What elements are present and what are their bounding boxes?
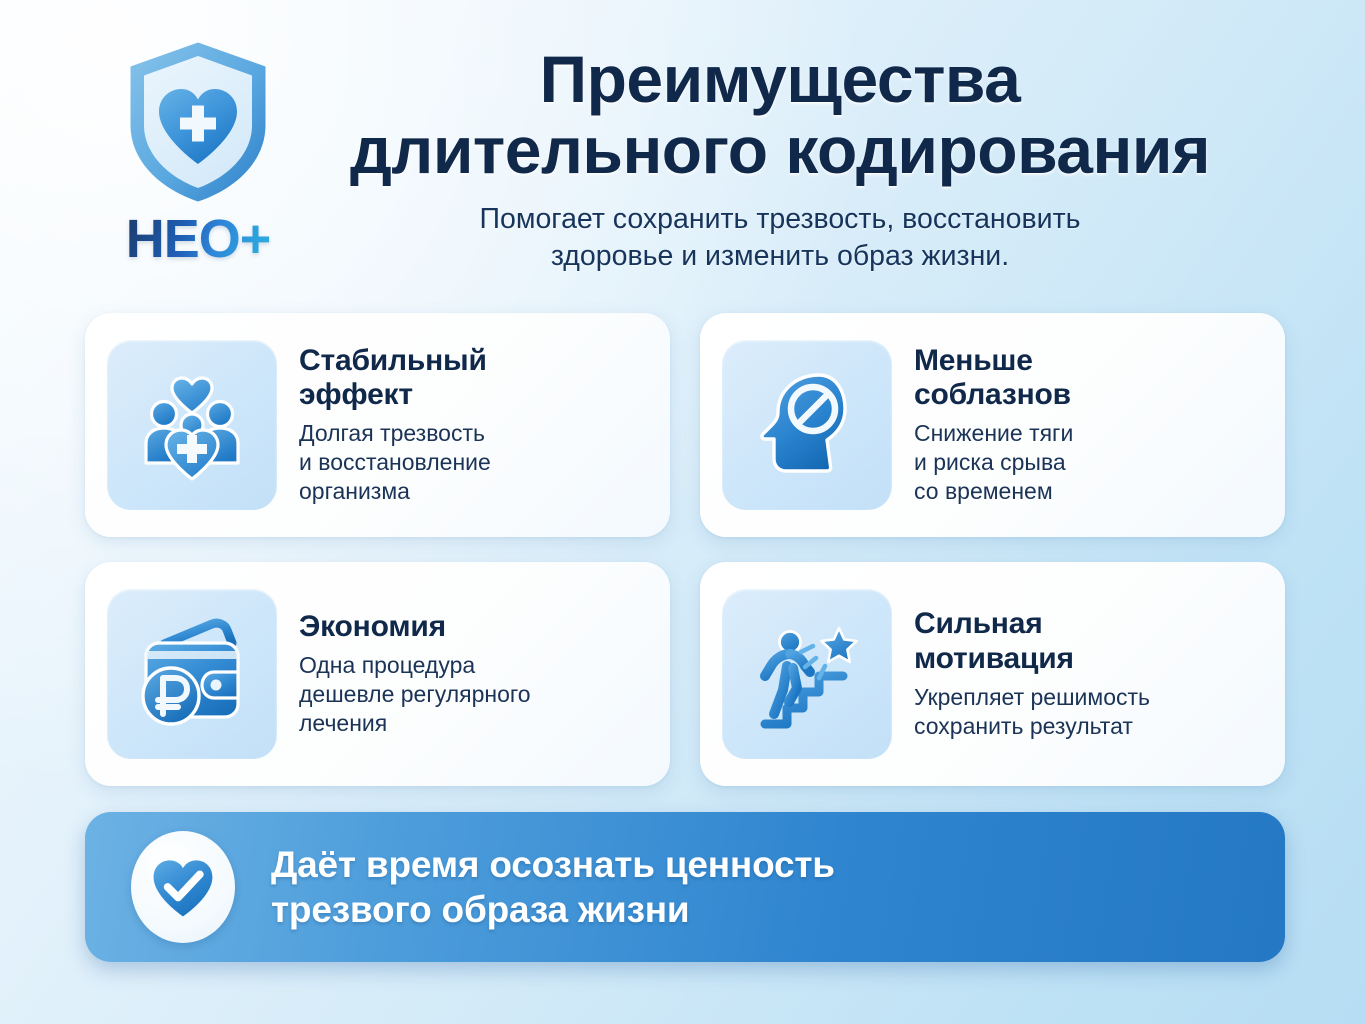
benefit-icon-tile [107, 340, 277, 510]
wallet-ruble-icon [128, 610, 256, 738]
benefit-desc-line-2: и риска срыва [914, 448, 1073, 477]
benefit-icon-tile [722, 340, 892, 510]
benefit-card-text: Меньше соблазнов Снижение тяги и риска с… [914, 344, 1079, 506]
benefit-title-line-2: соблазнов [914, 378, 1073, 412]
banner-message: Даёт время осознать ценность трезвого об… [271, 842, 835, 932]
header-text-block: Преимущества длительного кодирования Пом… [270, 44, 1290, 275]
poster-header: НЕО+ Преимущества длительного кодировани… [0, 0, 1365, 305]
benefit-card-less-temptation: Меньше соблазнов Снижение тяги и риска с… [700, 313, 1285, 537]
page-title-line-2: длительного кодирования [270, 115, 1290, 186]
benefit-card-stable-effect: Стабильный эффект Долгая трезвость и вос… [85, 313, 670, 537]
shield-heart-plus-icon [123, 38, 273, 206]
benefit-card-description: Снижение тяги и риска срыва со временем [914, 419, 1073, 506]
person-stairs-star-icon [743, 610, 871, 738]
benefit-desc-line-3: организма [299, 477, 491, 506]
benefit-card-description: Долгая трезвость и восстановление органи… [299, 419, 491, 506]
benefit-desc-line-1: Долгая трезвость [299, 419, 491, 448]
benefit-card-text: Экономия Одна процедура дешевле регулярн… [299, 610, 537, 738]
banner-line-2: трезвого образа жизни [271, 887, 835, 932]
page-title-line-1: Преимущества [540, 42, 1021, 116]
benefit-card-description: Одна процедура дешевле регулярного лечен… [299, 651, 531, 738]
benefit-desc-line-1: Укрепляет решимость [914, 683, 1150, 712]
benefit-desc-line-2: сохранить результат [914, 712, 1150, 741]
benefit-card-description: Укрепляет решимость сохранить результат [914, 683, 1150, 741]
benefit-icon-tile [722, 589, 892, 759]
benefit-title-line-1: Стабильный [299, 344, 491, 378]
page-subtitle-line-1: Помогает сохранить трезвость, восстанови… [270, 201, 1290, 238]
benefit-card-title: Экономия [299, 610, 531, 644]
benefit-title-line-2: эффект [299, 378, 491, 412]
benefit-card-title: Меньше соблазнов [914, 344, 1073, 412]
page-subtitle: Помогает сохранить трезвость, восстанови… [270, 201, 1290, 275]
page-title: Преимущества длительного кодирования [270, 44, 1290, 187]
benefit-card-text: Сильная мотивация Укрепляет решимость со… [914, 607, 1156, 740]
benefit-desc-line-2: и восстановление [299, 448, 491, 477]
benefit-card-title: Сильная мотивация [914, 607, 1150, 675]
infographic-poster: НЕО+ Преимущества длительного кодировани… [0, 0, 1365, 1024]
benefit-title-line-1: Меньше [914, 344, 1073, 378]
benefit-title-line-2: мотивация [914, 642, 1150, 676]
bottom-banner: Даёт время осознать ценность трезвого об… [85, 812, 1285, 962]
benefit-title-line-1: Экономия [299, 610, 531, 644]
benefit-desc-line-1: Одна процедура [299, 651, 531, 680]
benefit-desc-line-1: Снижение тяги [914, 419, 1073, 448]
benefit-title-line-1: Сильная [914, 607, 1150, 641]
benefit-card-text: Стабильный эффект Долгая трезвость и вос… [299, 344, 497, 506]
heart-check-circle-icon [148, 852, 218, 922]
page-subtitle-line-2: здоровье и изменить образ жизни. [270, 238, 1290, 275]
family-heart-plus-icon [128, 361, 256, 489]
benefit-desc-line-2: дешевле регулярного [299, 680, 531, 709]
benefit-desc-line-3: со временем [914, 477, 1073, 506]
brand-wordmark: НЕО+ [126, 212, 271, 266]
benefit-card-savings: Экономия Одна процедура дешевле регулярн… [85, 562, 670, 786]
benefit-icon-tile [107, 589, 277, 759]
benefits-grid: Стабильный эффект Долгая трезвость и вос… [85, 313, 1285, 786]
head-no-entry-icon [743, 361, 871, 489]
benefit-card-title: Стабильный эффект [299, 344, 491, 412]
benefit-card-motivation: Сильная мотивация Укрепляет решимость со… [700, 562, 1285, 786]
benefit-desc-line-3: лечения [299, 709, 531, 738]
banner-badge [131, 831, 235, 943]
banner-line-1: Даёт время осознать ценность [271, 842, 835, 887]
